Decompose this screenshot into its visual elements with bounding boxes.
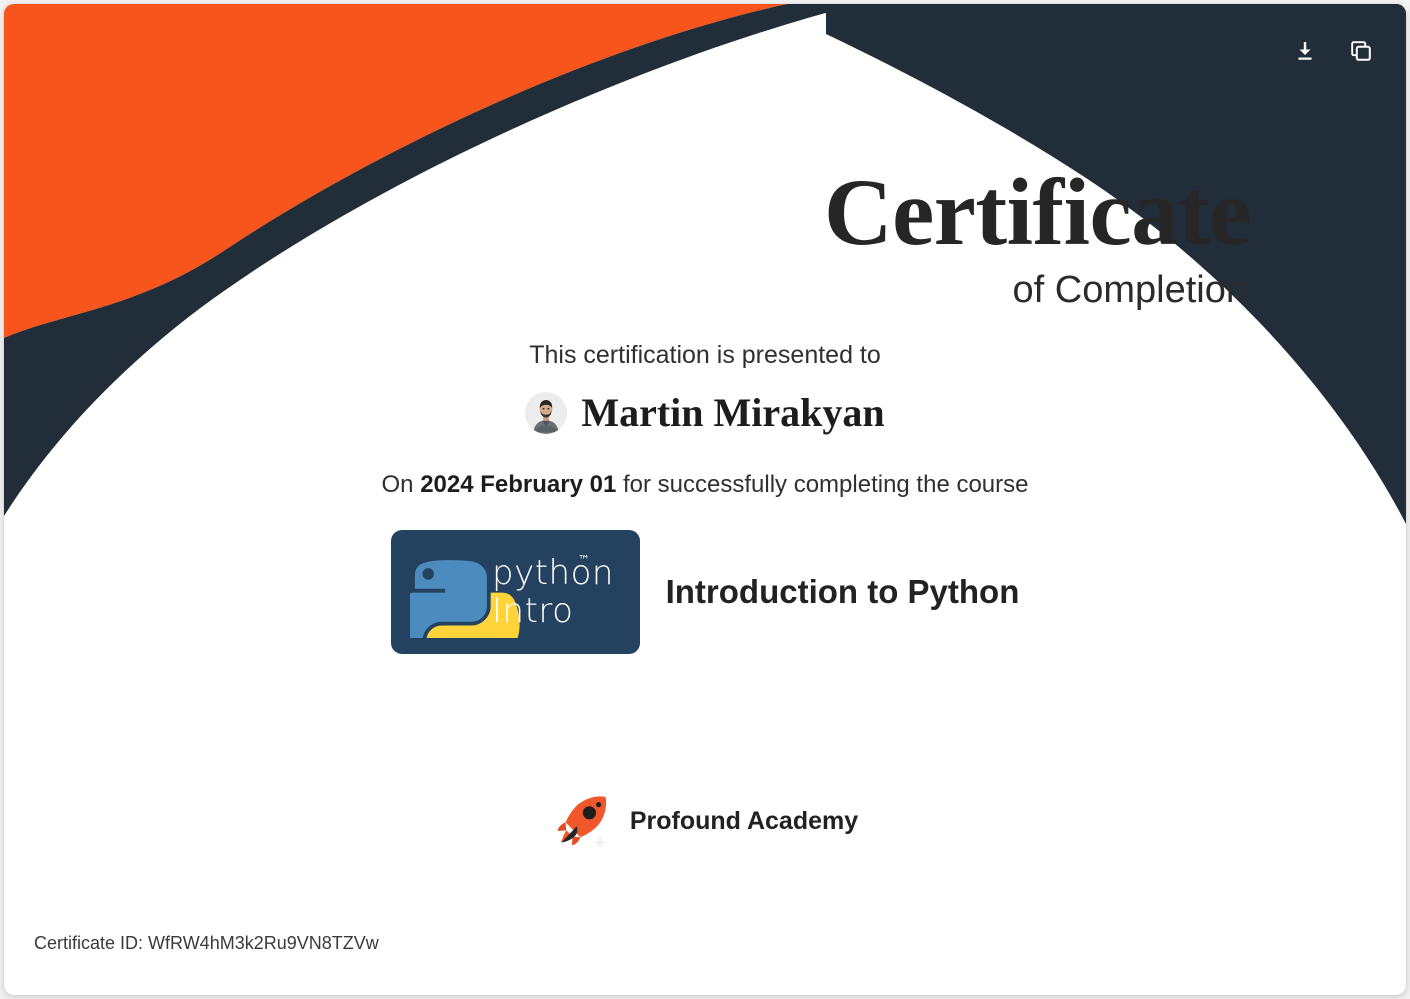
- avatar: [525, 392, 567, 434]
- copy-button[interactable]: [1346, 36, 1376, 66]
- certificate-id-value: WfRW4hM3k2Ru9VN8TZVw: [148, 933, 379, 953]
- course-row: python ™ Intro Introduction to Python: [4, 530, 1406, 654]
- badge-wordmark: python: [492, 553, 614, 593]
- brand-row: Profound Academy: [4, 790, 1406, 852]
- completion-line: On 2024 February 01 for successfully com…: [4, 471, 1406, 500]
- course-badge: python ™ Intro: [391, 530, 640, 654]
- completion-date: 2024 February 01: [420, 471, 616, 498]
- completion-suffix: for successfully completing the course: [616, 471, 1028, 498]
- rocket-icon: [552, 790, 614, 852]
- brand-name: Profound Academy: [630, 809, 858, 834]
- completion-prefix: On: [382, 471, 421, 498]
- course-name: Introduction to Python: [666, 575, 1020, 608]
- recipient-name: Martin Mirakyan: [581, 393, 884, 433]
- page-title: Certificate: [824, 164, 1251, 261]
- toolbar: [1290, 36, 1376, 66]
- badge-sub-wordmark: Intro: [492, 591, 573, 631]
- certificate-id: Certificate ID: WfRW4hM3k2Ru9VN8TZVw: [34, 933, 379, 955]
- title-block: Certificate of Completion: [824, 164, 1251, 309]
- page-subtitle: of Completion: [824, 271, 1247, 309]
- download-icon: [1293, 39, 1317, 63]
- copy-icon: [1349, 39, 1373, 63]
- download-button[interactable]: [1290, 36, 1320, 66]
- badge-trademark-icon: ™: [578, 553, 590, 567]
- recipient-row: Martin Mirakyan: [4, 392, 1406, 434]
- certificate-content: Certificate of Completion This certifica…: [4, 4, 1406, 995]
- certificate-card: Certificate of Completion This certifica…: [4, 4, 1406, 995]
- certificate-id-label: Certificate ID:: [34, 933, 148, 953]
- recipient-section: This certification is presented to: [4, 340, 1406, 654]
- presented-to-label: This certification is presented to: [4, 340, 1406, 370]
